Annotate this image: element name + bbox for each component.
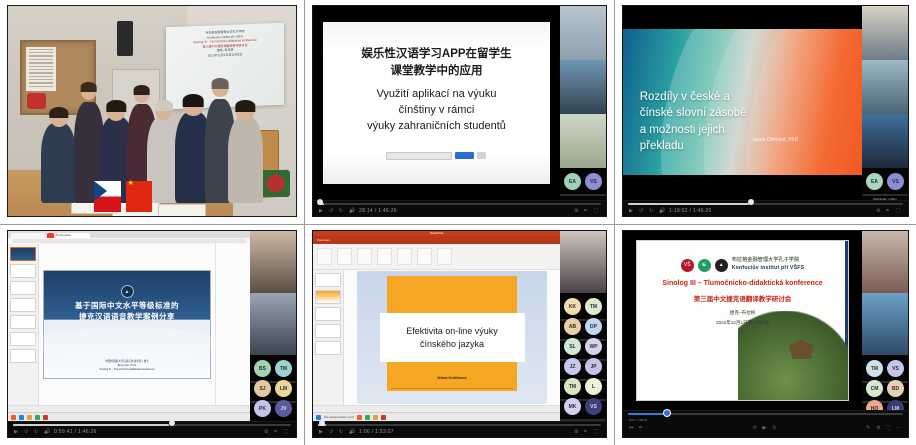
fullscreen-icon[interactable]: ⛶ xyxy=(886,425,892,431)
taskbar-icon[interactable] xyxy=(357,415,362,420)
start-icon[interactable] xyxy=(316,415,321,420)
forward-icon[interactable]: ↻ xyxy=(339,429,345,435)
wall-speaker xyxy=(117,21,133,57)
avatar[interactable]: VS xyxy=(887,173,904,190)
slide-title-cn: 基于国际中文水平等级标准的 捷克汉语语音教学案例分享 xyxy=(75,301,179,321)
playback-time: 28:14 / 1:46:26 xyxy=(359,208,397,214)
forward-icon[interactable]: ↻ xyxy=(649,208,655,214)
slide-title-cn-line2: 捷克汉语语音教学案例分享 xyxy=(75,312,179,322)
slide-title-cz-line3: výuky zahraničních studentů xyxy=(367,119,506,135)
participant-avatars: KK TM AB DP SL WP JZ JP TM L MK VS xyxy=(560,293,606,421)
play-icon[interactable]: ▶ xyxy=(319,429,325,435)
collage-cell-1[interactable]: 布拉格金融管理大学孔子学院 Konfuciův institut při VŠF… xyxy=(0,0,305,225)
slide-author: Klára Kutilková xyxy=(357,375,547,380)
avatar[interactable]: VS xyxy=(585,398,602,415)
video-recording-4: Prezentace xyxy=(7,230,297,438)
slide-thumbnail[interactable] xyxy=(315,307,341,321)
group-of-people xyxy=(37,73,267,203)
fullscreen-icon[interactable]: ⛶ xyxy=(896,208,902,214)
collage-cell-4[interactable]: Prezentace xyxy=(0,225,305,445)
table-flags xyxy=(94,157,152,212)
player-right-controls[interactable]: ⚙ ⌗ ⛶ xyxy=(264,429,290,435)
avatar[interactable]: WP xyxy=(585,338,602,355)
slide-title-line4: překladu xyxy=(640,138,747,154)
slide-subtitle-line3: Sinolog III – Tlumočnicko-didaktická kon… xyxy=(54,368,200,372)
shared-screen-stage: PowerPoint Prezentace xyxy=(313,231,560,421)
institution-name-cz: Konfuciův institut při VŠFS xyxy=(732,265,805,273)
taskbar-icon[interactable] xyxy=(11,415,16,420)
url-input[interactable] xyxy=(12,239,246,243)
slide-title-cn-line2: 课堂教学中的应用 xyxy=(361,63,511,80)
progress-knob[interactable] xyxy=(663,409,671,417)
ribbon-button[interactable] xyxy=(357,248,372,265)
collage-cell-2[interactable]: 娱乐性汉语学习APP在留学生 课堂教学中的应用 Využití aplikací… xyxy=(305,0,615,225)
video-conference-view: Prezentace xyxy=(8,231,296,437)
status-bar xyxy=(313,405,560,412)
avatar[interactable]: VS xyxy=(585,173,602,190)
play-icon[interactable]: ▶ xyxy=(319,208,325,214)
fullscreen-icon[interactable]: ⛶ xyxy=(284,429,290,435)
volume-icon[interactable]: 🔊 xyxy=(349,208,355,214)
taskbar-icon[interactable] xyxy=(27,415,32,420)
avatar[interactable]: SJ xyxy=(254,380,271,397)
confucius-logo-icon: ☯ xyxy=(698,259,711,272)
playback-time: 1:06 / 1:53:07 xyxy=(359,429,394,435)
slide-title-line3: a možnosti jejich xyxy=(640,122,747,138)
slide-title-cz-line2: čínštiny v rámci xyxy=(367,103,506,119)
player-right-controls[interactable]: ⚙ ⌗ ⛶ xyxy=(574,429,600,435)
player-left-controls[interactable]: ▶ ↺ ↻ 🔊 1:06 / 1:53:07 xyxy=(319,429,394,435)
video-player-controls[interactable]: ▶ ↺ ↻ 🔊 1:06 / 1:53:07 ⚙ ⌗ ⛶ xyxy=(313,421,606,437)
fullscreen-icon[interactable]: ⛶ xyxy=(594,429,600,435)
play-icon[interactable]: ▶ xyxy=(763,425,769,431)
slide-thumbnail-panel[interactable] xyxy=(8,244,39,405)
progress-bar[interactable] xyxy=(318,203,601,205)
windows-taskbar[interactable] xyxy=(8,412,250,421)
progress-bar[interactable] xyxy=(628,203,903,205)
collage-cell-3[interactable]: Rozdíly v české a čínské slovní zásobě a… xyxy=(615,0,916,225)
taskbar-icon[interactable] xyxy=(381,415,386,420)
video-recording-5: PowerPoint Prezentace xyxy=(312,230,607,438)
forward-icon[interactable]: ↻ xyxy=(34,429,40,435)
participant-avatars: EA VS xyxy=(862,168,908,195)
slide-thumbnail[interactable] xyxy=(10,315,36,329)
avatar[interactable]: MK xyxy=(564,398,581,415)
collage-cell-5[interactable]: PowerPoint Prezentace xyxy=(305,225,615,445)
slide-thumbnail-active[interactable] xyxy=(10,247,36,261)
slide-title-line1: Efektivita on-line výuky xyxy=(386,325,519,338)
taskbar-icon[interactable] xyxy=(365,415,370,420)
captions-icon[interactable]: ⌗ xyxy=(274,429,280,435)
taskbar-search[interactable]: Zde zadejte hledaný výraz xyxy=(324,416,354,419)
captions-icon[interactable]: ⌗ xyxy=(886,208,892,214)
playback-time: 0:59:41 / 1:46:26 xyxy=(54,429,97,435)
participant-thumbnail[interactable] xyxy=(560,6,606,60)
ribbon-tab-active[interactable]: Prezentace xyxy=(317,239,330,242)
ribbon-button[interactable] xyxy=(317,248,332,265)
university-seal-icon: ▲ xyxy=(715,259,728,272)
slide-title-cz: Využití aplikací na výuku čínštiny v rám… xyxy=(367,87,506,135)
play-icon[interactable]: ▶ xyxy=(14,429,20,435)
settings-icon[interactable]: ⚙ xyxy=(876,208,882,214)
forward-icon[interactable]: ↻ xyxy=(339,208,345,214)
slide-title-cn-line1: 娱乐性汉语学习APP在留学生 xyxy=(361,46,511,63)
taskbar-icon[interactable] xyxy=(373,415,378,420)
conference-date: 2022年12月1日至12月2日 xyxy=(716,320,769,326)
slide-subtitle: 中国外国语大学汉语与外语学院 / 博士 Beng Sun, Ph.D Sinol… xyxy=(54,360,200,372)
classroom-scene: 布拉格金融管理大学孔子学院 Konfuciův institut při VŠF… xyxy=(8,6,296,216)
avatar[interactable]: JV xyxy=(275,400,292,417)
rewind-icon[interactable]: ↺ xyxy=(753,425,759,431)
slide-thumbnail[interactable] xyxy=(315,341,341,355)
settings-icon[interactable]: ⚙ xyxy=(264,429,270,435)
slide-title-line2: čínského jazyka xyxy=(386,338,519,351)
avatar[interactable]: DP xyxy=(585,318,602,335)
browser-tab-strip[interactable]: Prezentace xyxy=(8,231,250,238)
ribbon-button[interactable] xyxy=(417,248,432,265)
presentation-slide: 娱乐性汉语学习APP在留学生 课堂教学中的应用 Využití aplikací… xyxy=(313,6,560,200)
participant-rail: TM VS CM BD HO LM xyxy=(862,231,908,410)
avatar[interactable]: BD xyxy=(887,380,904,397)
slide-title: Rozdíly v české a čínské slovní zásobě a… xyxy=(640,89,747,154)
captions-icon[interactable]: ⌗ xyxy=(639,425,645,431)
avatar[interactable]: L xyxy=(585,378,602,395)
progress-bar[interactable] xyxy=(13,424,291,426)
volume-icon[interactable]: 🔊 xyxy=(349,429,355,435)
video-conference-view: 娱乐性汉语学习APP在留学生 课堂教学中的应用 Využití aplikací… xyxy=(313,6,606,216)
edit-icon[interactable]: ✎ xyxy=(866,425,872,431)
side-pane xyxy=(215,244,250,405)
powerpoint-ribbon[interactable]: PowerPoint Prezentace xyxy=(313,231,560,244)
name-card xyxy=(158,204,206,218)
slide-thumbnail-active[interactable] xyxy=(315,273,341,287)
presentation-slide: VŠ ☯ ▲ 布拉格金融管理大学孔子学院 Konfuciův institut … xyxy=(636,240,848,402)
video-conference-view: VŠ ☯ ▲ 布拉格金融管理大学孔子学院 Konfuciův institut … xyxy=(623,231,908,437)
slide-thumbnail[interactable] xyxy=(315,324,341,338)
volume-icon[interactable]: 🔊 xyxy=(44,429,50,435)
institution-name-cn: 布拉格金融管理大学孔子学院 xyxy=(732,257,805,265)
taskbar-icon[interactable] xyxy=(43,415,48,420)
slide-thumbnail[interactable] xyxy=(315,290,341,304)
video-player-controls[interactable]: ⏮ ⌗ ↺ ▶ ↻ ✎ ⚙ ⛶ ⋯ 0:04 / 1:38:20 xyxy=(623,410,908,437)
slide-thumbnail[interactable] xyxy=(10,298,36,312)
photo-group-room: 布拉格金融管理大学孔子学院 Konfuciův institut při VŠF… xyxy=(7,5,297,217)
participant-thumbnail[interactable] xyxy=(560,231,606,293)
player-left-controls[interactable]: ⏮ ⌗ xyxy=(629,425,645,431)
slide-thumbnail[interactable] xyxy=(10,281,36,295)
avatar[interactable]: SL xyxy=(564,338,581,355)
ribbon-button[interactable] xyxy=(437,248,452,265)
collage-cell-6[interactable]: VŠ ☯ ▲ 布拉格金融管理大学孔子学院 Konfuciův institut … xyxy=(615,225,916,445)
captions-icon[interactable]: ⌗ xyxy=(584,429,590,435)
shared-application-window: PowerPoint Prezentace xyxy=(313,231,560,421)
avatar[interactable]: EA xyxy=(564,173,581,190)
slide-title: Efektivita on-line výuky čínského jazyka xyxy=(380,313,525,362)
avatar[interactable]: JP xyxy=(585,358,602,375)
shared-screen-stage: Prezentace xyxy=(8,231,250,421)
settings-icon[interactable]: ⚙ xyxy=(574,429,580,435)
conference-place: 捷克–布拉格 xyxy=(730,310,756,316)
institution-name: 布拉格金融管理大学孔子学院 Konfuciův institut při VŠF… xyxy=(732,257,805,273)
participant-rail: EA VS xyxy=(560,6,606,200)
participant-thumbnail[interactable] xyxy=(862,293,908,355)
ribbon-tabs[interactable]: Prezentace xyxy=(313,236,560,244)
progress-knob[interactable] xyxy=(319,420,325,426)
photo-collage: 布拉格金融管理大学孔子学院 Konfuciův institut při VŠF… xyxy=(0,0,916,445)
progress-bar[interactable] xyxy=(318,424,601,426)
windows-taskbar[interactable]: Zde zadejte hledaný výraz xyxy=(313,412,560,421)
participant-thumbnail[interactable] xyxy=(560,60,606,114)
taskbar-icon[interactable] xyxy=(19,415,24,420)
ribbon-button[interactable] xyxy=(377,248,392,265)
institution-logos: VŠ ☯ ▲ 布拉格金融管理大学孔子学院 Konfuciův institut … xyxy=(681,257,805,273)
slide-thumbnail-panel[interactable] xyxy=(313,270,344,405)
player-right-controls[interactable]: ⚙ ⌗ ⛶ xyxy=(876,208,902,214)
university-seal-icon: ▲ xyxy=(121,285,134,298)
avatar[interactable]: PK xyxy=(254,400,271,417)
slide-wave-background: Rozdíly v české a čínské slovní zásobě a… xyxy=(623,29,862,175)
ribbon-button[interactable] xyxy=(397,248,412,265)
participant-thumbnail[interactable] xyxy=(862,114,908,168)
participant-thumbnail[interactable] xyxy=(862,231,908,293)
participant-thumbnail[interactable] xyxy=(862,6,908,60)
video-recording-2: 娱乐性汉语学习APP在留学生 课堂教学中的应用 Využití aplikací… xyxy=(312,5,607,217)
slide-canvas: ▲ 基于国际中文水平等级标准的 捷克汉语语音教学案例分享 中国外国语大学汉语与外… xyxy=(39,244,215,405)
slide-footer-button-secondary xyxy=(477,152,486,159)
slide-footer-button xyxy=(455,152,474,159)
slide-title-line2: čínské slovní zásobě xyxy=(640,105,747,121)
shared-application-window: Prezentace xyxy=(8,231,250,421)
video-recording-6: VŠ ☯ ▲ 布拉格金融管理大学孔子学院 Konfuciův institut … xyxy=(622,230,909,438)
conference-title-cn: 第三届中文捷克语翻译教学研讨会 xyxy=(694,293,792,303)
video-player-controls[interactable]: ▶ ↺ ↻ 🔊 0:59:41 / 1:46:26 ⚙ ⌗ ⛶ xyxy=(8,421,296,437)
participant-avatars: EA VS xyxy=(560,168,606,200)
video-conference-view: Rozdíly v české a čínské slovní zásobě a… xyxy=(623,6,908,216)
person xyxy=(228,117,263,203)
avatar[interactable]: TM xyxy=(564,378,581,395)
player-right-controls[interactable]: ⚙ ⌗ ⛶ xyxy=(574,208,600,214)
slide-footer-field xyxy=(386,152,452,160)
avatar[interactable]: KK xyxy=(564,298,581,315)
player-left-controls[interactable]: ▶ ↺ ↻ 🔊 0:59:41 / 1:46:26 xyxy=(14,429,97,435)
avatar[interactable]: AB xyxy=(564,318,581,335)
presentation-slide: ▲ 基于国际中文水平等级标准的 捷克汉语语音教学案例分享 中国外国语大学汉语与外… xyxy=(43,270,211,380)
avatar[interactable]: TM xyxy=(275,360,292,377)
participant-thumbnail[interactable] xyxy=(250,293,296,355)
settings-icon[interactable]: ⚙ xyxy=(574,208,580,214)
video-player-controls[interactable]: ▶ ↺ ↻ 🔊 28:14 / 1:46:26 ⚙ ⌗ ⛶ xyxy=(313,200,606,216)
flag-czech xyxy=(94,181,120,212)
participant-rail: EA VS Nahrávání v běhu xyxy=(862,6,908,200)
player-left-controls[interactable]: ▶ ↺ ↻ 🔊 28:14 / 1:46:26 xyxy=(319,208,397,214)
slide-canvas: Efektivita on-line výuky čínského jazyka… xyxy=(344,270,560,405)
player-left-controls[interactable]: ▶ ↺ ↻ 🔊 1:19:02 / 1:46:26 xyxy=(629,208,712,214)
flag-china xyxy=(126,181,152,212)
ribbon-button[interactable] xyxy=(337,248,352,265)
slide-title-cn-line1: 基于国际中文水平等级标准的 xyxy=(75,301,179,311)
slide-thumbnail[interactable] xyxy=(10,264,36,278)
participant-rail: KK TM AB DP SL WP JZ JP TM L MK VS xyxy=(560,231,606,421)
forward-icon[interactable]: ↻ xyxy=(773,425,779,431)
participant-avatars: BS TM SJ LM PK JV xyxy=(250,355,296,422)
presentation-slide: Efektivita on-line výuky čínského jazyka… xyxy=(357,271,547,404)
shared-screen-stage: VŠ ☯ ▲ 布拉格金融管理大学孔子学院 Konfuciův institut … xyxy=(623,231,862,410)
slide-white: 娱乐性汉语学习APP在留学生 课堂教学中的应用 Využití aplikací… xyxy=(323,22,550,185)
playback-time: 0:04 / 1:38:20 xyxy=(629,418,647,422)
volume-icon[interactable]: 🔊 xyxy=(659,208,665,214)
settings-icon[interactable]: ⚙ xyxy=(876,425,882,431)
avatar[interactable]: TM xyxy=(585,298,602,315)
player-transport-controls[interactable]: ↺ ▶ ↻ xyxy=(753,425,779,431)
participant-thumbnail[interactable] xyxy=(560,114,606,168)
slide-author: Jakub Chmelař, PhD xyxy=(752,137,798,143)
progress-knob[interactable] xyxy=(317,199,323,205)
person xyxy=(41,123,76,204)
participant-thumbnail[interactable] xyxy=(250,231,296,293)
avatar[interactable]: BS xyxy=(254,360,271,377)
ribbon-toolbar[interactable] xyxy=(313,244,560,270)
rewind-icon[interactable]: ↺ xyxy=(329,429,335,435)
player-right-controls[interactable]: ✎ ⚙ ⛶ ⋯ xyxy=(866,425,902,431)
playback-time: 1:19:02 / 1:46:26 xyxy=(669,208,712,214)
taskbar-icon[interactable] xyxy=(35,415,40,420)
avatar[interactable]: CM xyxy=(866,380,883,397)
slide-footer-widget xyxy=(386,152,486,160)
conference-title-cz: Sinolog III – Tlumočnicko-didaktická kon… xyxy=(662,280,822,287)
avatar[interactable]: TM xyxy=(866,360,883,377)
slide-thumbnail[interactable] xyxy=(10,349,36,363)
slide-title-cn: 娱乐性汉语学习APP在留学生 课堂教学中的应用 xyxy=(361,46,511,79)
more-icon[interactable]: ⋯ xyxy=(896,425,902,431)
play-icon[interactable]: ▶ xyxy=(629,208,635,214)
avatar[interactable]: VS xyxy=(887,360,904,377)
rewind-icon[interactable]: ↺ xyxy=(24,429,30,435)
captions-icon[interactable]: ⌗ xyxy=(584,208,590,214)
participant-rail: BS TM SJ LM PK JV xyxy=(250,231,296,421)
slide-title-cz-line1: Využití aplikací na výuku xyxy=(367,87,506,103)
avatar[interactable]: LM xyxy=(275,380,292,397)
shared-screen-stage: Rozdíly v české a čínské slovní zásobě a… xyxy=(623,6,862,200)
shared-screen-stage: 娱乐性汉语学习APP在留学生 课堂教学中的应用 Využití aplikací… xyxy=(313,6,560,200)
rewind-icon[interactable]: ↺ xyxy=(639,208,645,214)
rewind-icon[interactable]: ↺ xyxy=(329,208,335,214)
video-conference-view: PowerPoint Prezentace xyxy=(313,231,606,437)
vsfs-logo-icon: VŠ xyxy=(681,259,694,272)
video-player-controls[interactable]: ▶ ↺ ↻ 🔊 1:19:02 / 1:46:26 ⚙ ⌗ ⛶ xyxy=(623,200,908,216)
status-bar xyxy=(8,405,250,412)
avatar[interactable]: EA xyxy=(866,173,883,190)
avatar[interactable]: JZ xyxy=(564,358,581,375)
video-recording-3: Rozdíly v české a čínské slovní zásobě a… xyxy=(622,5,909,217)
rewind-icon[interactable]: ⏮ xyxy=(629,425,635,431)
fullscreen-icon[interactable]: ⛶ xyxy=(594,208,600,214)
participant-thumbnail[interactable] xyxy=(862,60,908,114)
slide-title-line1: Rozdíly v české a xyxy=(640,89,747,105)
